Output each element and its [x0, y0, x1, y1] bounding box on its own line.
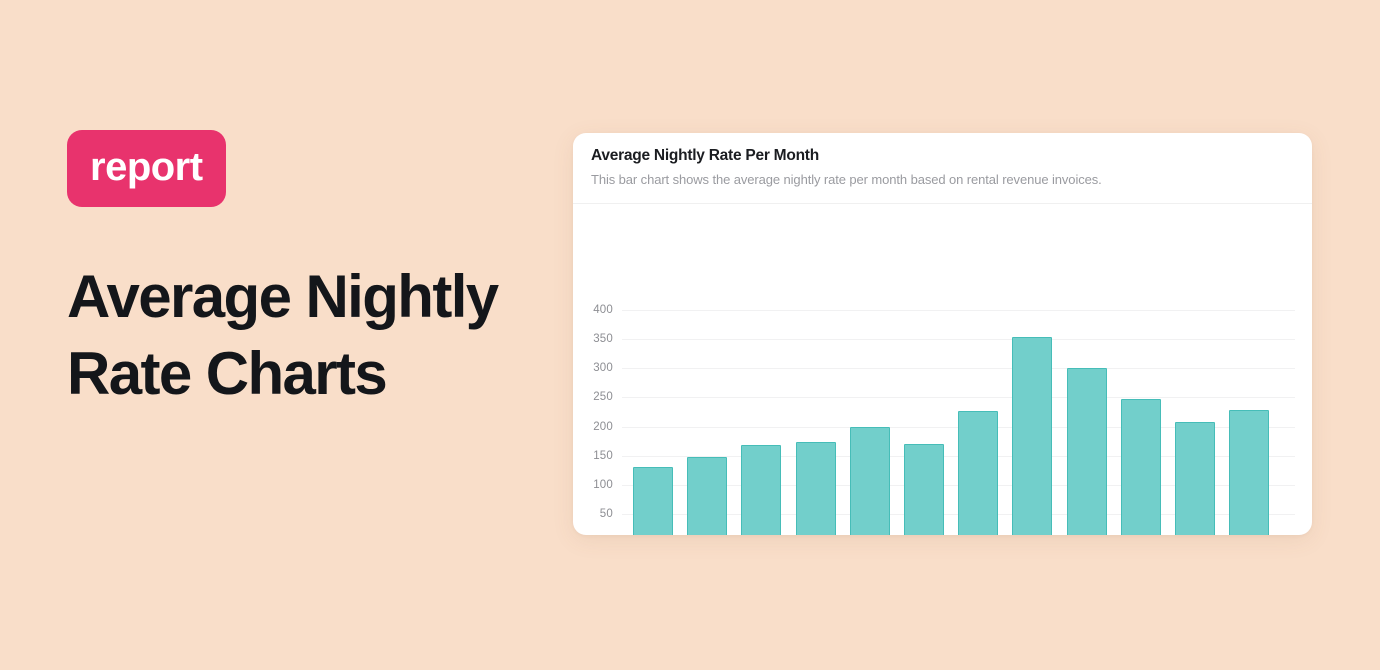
- bar[interactable]: [904, 444, 944, 535]
- bar[interactable]: [796, 442, 836, 535]
- bar[interactable]: [687, 457, 727, 535]
- chart-card-header: Average Nightly Rate Per Month This bar …: [573, 133, 1312, 204]
- bar[interactable]: [1175, 422, 1215, 535]
- chart-title: Average Nightly Rate Per Month: [591, 147, 1294, 166]
- bar[interactable]: [1121, 399, 1161, 535]
- page-title: Average Nightly Rate Charts: [67, 259, 547, 413]
- bar[interactable]: [1012, 337, 1052, 535]
- bar[interactable]: [741, 445, 781, 535]
- bar-series: [573, 204, 1312, 534]
- chart-plot-area: 050100150200250300350400 JanuaryFebruary…: [573, 204, 1312, 534]
- report-badge: report: [67, 130, 226, 207]
- bar[interactable]: [633, 467, 673, 535]
- chart-card: Average Nightly Rate Per Month This bar …: [573, 133, 1312, 535]
- hero-panel: report Average Nightly Rate Charts: [67, 130, 547, 413]
- page-root: report Average Nightly Rate Charts Avera…: [0, 0, 1380, 670]
- bar[interactable]: [958, 411, 998, 535]
- bar[interactable]: [1067, 368, 1107, 535]
- bar[interactable]: [850, 427, 890, 536]
- bar[interactable]: [1229, 410, 1269, 535]
- chart-subtitle: This bar chart shows the average nightly…: [591, 172, 1294, 188]
